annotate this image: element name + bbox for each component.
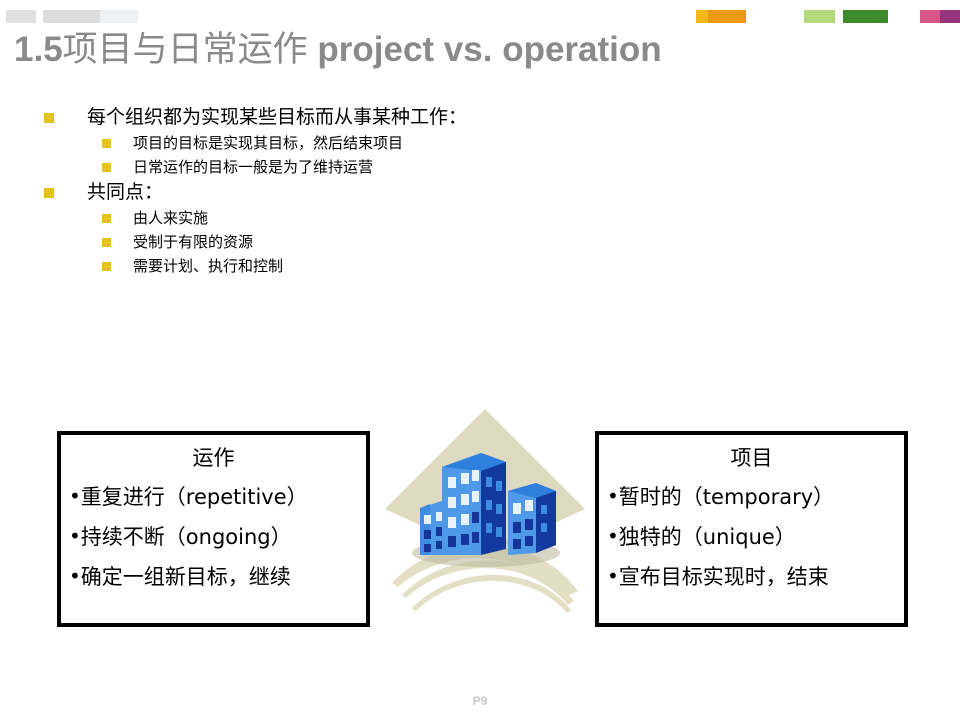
bullet-dot-icon: • <box>607 484 619 508</box>
bullet-item: 共同点： <box>44 179 644 206</box>
bullet-text: 项目的目标是实现其目标，然后结束项目 <box>133 131 403 155</box>
deco-bar-pink <box>920 10 940 23</box>
deco-bar-gray-1 <box>6 10 36 23</box>
bullet-item: 每个组织都为实现某些目标而从事某种工作： <box>44 104 644 131</box>
bullet-text: 需要计划、执行和控制 <box>133 254 283 278</box>
bullet-square-icon <box>102 139 111 148</box>
project-box-line: •宣布目标实现时，结束 <box>599 562 904 591</box>
project-box-line-text: 宣布目标实现时，结束 <box>619 565 829 589</box>
page-number: P9 <box>0 694 960 708</box>
bullet-square-icon <box>102 262 111 271</box>
bullet-item: 项目的目标是实现其目标，然后结束项目 <box>44 131 644 155</box>
operation-box-line: •持续不断（ongoing） <box>61 522 366 551</box>
project-box-line-text: 独特的（unique） <box>619 525 796 549</box>
bullet-square-icon <box>44 113 54 123</box>
bullet-square-icon <box>102 238 111 247</box>
deco-bar-gray-3 <box>100 10 138 23</box>
operation-box: 运作 •重复进行（repetitive） •持续不断（ongoing） •确定一… <box>57 431 370 627</box>
deco-bar-green-dark <box>843 10 888 23</box>
bullet-text: 由人来实施 <box>133 206 208 230</box>
bullet-item: 受制于有限的资源 <box>44 230 644 254</box>
bullet-dot-icon: • <box>69 564 81 588</box>
bullet-dot-icon: • <box>69 484 81 508</box>
slide-title-cjk: 项目与日常运作 <box>63 30 308 70</box>
project-box-heading: 项目 <box>599 446 904 471</box>
deco-bar-green-light <box>804 10 835 23</box>
operation-box-line-text: 持续不断（ongoing） <box>81 525 292 549</box>
deco-bar-plum <box>940 10 960 23</box>
bullet-dot-icon: • <box>607 564 619 588</box>
bullet-item: 由人来实施 <box>44 206 644 230</box>
bullet-square-icon <box>102 214 111 223</box>
slide-title: 1.5项目与日常运作 project vs. operation <box>14 27 662 73</box>
deco-bar-orange-dark <box>708 10 746 23</box>
city-buildings-illustration <box>378 405 592 637</box>
operation-box-line-text: 确定一组新目标，继续 <box>81 565 291 589</box>
bullet-text: 共同点： <box>87 179 163 206</box>
bullet-item: 需要计划、执行和控制 <box>44 254 644 278</box>
bullet-square-icon <box>44 188 54 198</box>
bullet-dot-icon: • <box>607 524 619 548</box>
project-box: 项目 •暂时的（temporary） •独特的（unique） •宣布目标实现时… <box>595 431 908 627</box>
deco-bar-orange-light <box>696 10 708 23</box>
operation-box-line: •确定一组新目标，继续 <box>61 562 366 591</box>
bullet-item: 日常运作的目标一般是为了维持运营 <box>44 155 644 179</box>
operation-box-heading: 运作 <box>61 446 366 471</box>
project-box-line: •暂时的（temporary） <box>599 482 904 511</box>
bullet-dot-icon: • <box>69 524 81 548</box>
bullet-list: 每个组织都为实现某些目标而从事某种工作： 项目的目标是实现其目标，然后结束项目 … <box>44 104 644 278</box>
operation-box-line-text: 重复进行（repetitive） <box>81 485 308 509</box>
project-box-line-text: 暂时的（temporary） <box>619 485 834 509</box>
deco-bar-gray-2 <box>43 10 100 23</box>
bullet-square-icon <box>102 163 111 172</box>
slide-title-number: 1.5 <box>14 30 63 69</box>
project-box-line: •独特的（unique） <box>599 522 904 551</box>
bullet-text: 日常运作的目标一般是为了维持运营 <box>133 155 373 179</box>
slide-title-latin: project vs. operation <box>308 30 662 69</box>
bullet-text: 每个组织都为实现某些目标而从事某种工作： <box>87 104 467 131</box>
operation-box-line: •重复进行（repetitive） <box>61 482 366 511</box>
bullet-text: 受制于有限的资源 <box>133 230 253 254</box>
